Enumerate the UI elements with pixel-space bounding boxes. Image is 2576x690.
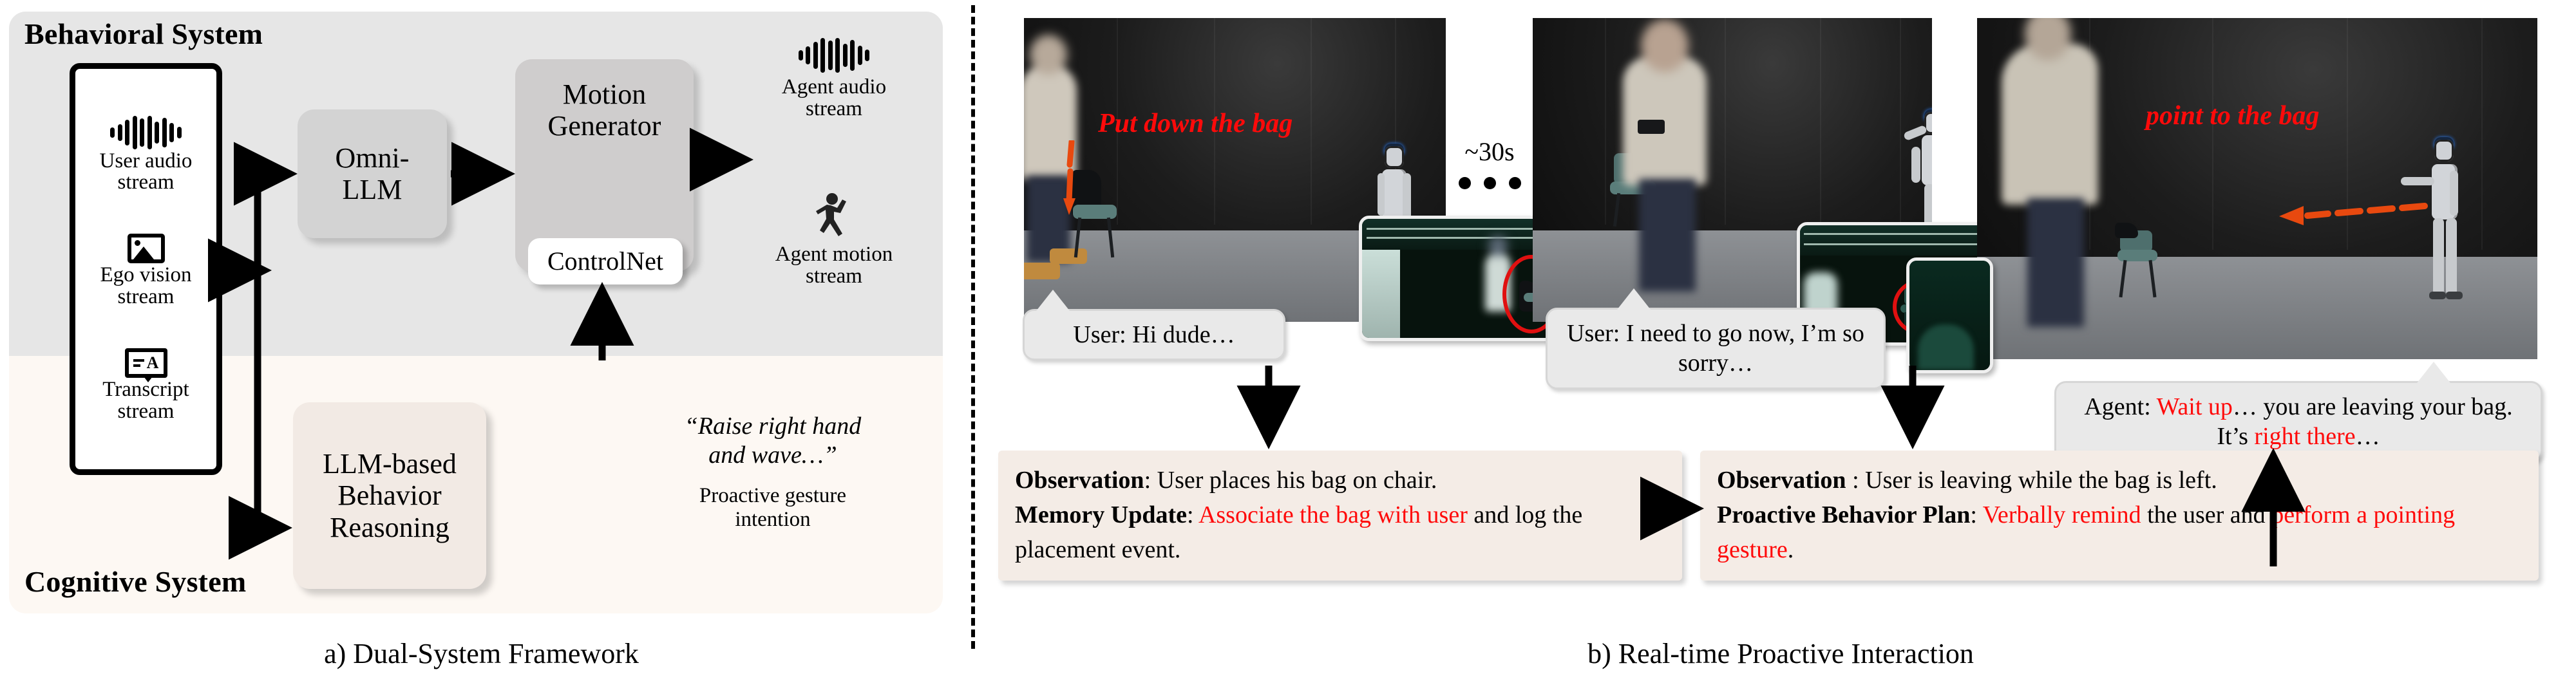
behavioral-system-title: Behavioral System [24,17,263,51]
speech-bubble-user-2: User: I need to go now, I’m so sorry… [1546,308,1886,389]
phone-icon [1638,120,1665,134]
ego-view-inset-3 [1906,257,1993,373]
observation-text: User is leaving while the bag is left. [1865,467,2217,494]
proactive-intention-block: “Raise right hand and wave…” Proactive g… [667,412,879,532]
frame-3-annotation: point to the bag [2146,100,2320,131]
module-controlnet[interactable]: ControlNet [528,238,683,284]
bubble-text-red-1: Wait up [2157,393,2233,420]
behavior-plan-line-2: Proactive Behavior Plan: Verbally remind… [1717,498,2522,568]
reasoning-box-1: Observation: User places his bag on chai… [998,451,1682,581]
video-frame-3: point to the bag [1977,18,2537,359]
observation-label: Observation [1717,467,1846,494]
output-label: Agent motionstream [775,243,893,288]
robot-agent [2410,137,2474,356]
panel-dual-system-framework: Behavioral System Cognitive System User … [0,0,963,690]
audio-waveform-icon [110,116,182,149]
observation-line-2: Observation : User is leaving while the … [1717,463,2522,498]
cognitive-system-title: Cognitive System [24,564,246,599]
user-figure [1623,57,1707,185]
input-stream-user-audio: User audiostream [75,116,216,194]
red-pointing-arrow-icon [2270,193,2431,232]
observation-text: User places his bag on chair. [1157,467,1437,494]
transcript-icon: A [125,348,167,378]
behavior-plan-label: Proactive Behavior Plan [1717,501,1970,528]
figure-root: Behavioral System Cognitive System User … [0,0,2576,690]
bubble-text-prefix: Agent: [2084,393,2156,420]
gesture-quote: “Raise right hand and wave…” [667,412,879,470]
input-stream-label: User audiostream [100,151,193,194]
image-icon [128,234,165,263]
frame-1-annotation: Put down the bag [1098,108,1293,139]
speech-bubble-user-1: User: Hi dude… [1023,309,1285,360]
user-legs [1639,179,1696,292]
output-agent-audio-stream: Agent audiostream [747,39,921,120]
memory-update-red: Associate the bag with user [1198,501,1468,528]
memory-update-label: Memory Update [1015,501,1187,528]
bubble-text: User: I need to go now, I’m so sorry… [1567,320,1864,377]
time-gap-label: ~30s [1450,136,1529,167]
audio-waveform-icon [799,39,870,72]
red-down-arrow-icon [1061,140,1087,218]
user-legs [2027,198,2084,327]
chair [2117,230,2159,301]
behavior-plan-rest: . [1788,536,1794,563]
behavior-plan-sep: : [1970,501,1982,528]
behavior-plan-mid: the user and [2141,501,2272,528]
memory-update-sep: : [1187,501,1198,528]
input-stream-label: Ego visionstream [100,265,191,308]
observation-label: Observation [1015,467,1144,494]
caption-panel-a: a) Dual-System Framework [0,637,963,670]
bubble-text-suffix: … [2356,423,2380,450]
observation-sep: : [1144,467,1157,494]
user-shoe [1024,263,1060,279]
panel-realtime-proactive-interaction: Put down the bag User: Hi dude… [985,0,2576,690]
input-stream-transcript: A Transcriptstream [75,348,216,422]
output-label: Agent audiostream [782,76,886,120]
input-stream-label: Transcriptstream [102,379,189,422]
observation-sep: : [1846,467,1866,494]
observation-line-1: Observation: User places his bag on chai… [1015,463,1665,498]
input-streams-box: User audiostream Ego visionstream A Tran… [70,63,222,475]
user-figure [2002,44,2098,205]
bubble-text-red-2: right there [2254,423,2355,450]
walking-person-icon [814,193,854,239]
bubble-text: User: Hi dude… [1073,321,1235,348]
module-llm-behavior-reasoning[interactable]: LLM-basedBehaviorReasoning [293,402,486,589]
behavior-plan-red-1: Verbally remind [1983,501,2141,528]
module-omni-llm[interactable]: Omni-LLM [298,109,447,238]
time-gap-marker: ~30s [1450,136,1529,189]
ellipsis-dots-icon [1450,177,1529,189]
caption-panel-b: b) Real-time Proactive Interaction [985,637,2576,670]
output-agent-motion-stream: Agent motionstream [747,193,921,288]
input-stream-ego-vision: Ego visionstream [75,234,216,308]
panel-divider [971,5,975,649]
reasoning-box-2: Observation : User is leaving while the … [1700,451,2539,581]
memory-update-line-1: Memory Update: Associate the bag with us… [1015,498,1665,568]
gesture-quote-caption: Proactive gesture intention [667,484,879,532]
